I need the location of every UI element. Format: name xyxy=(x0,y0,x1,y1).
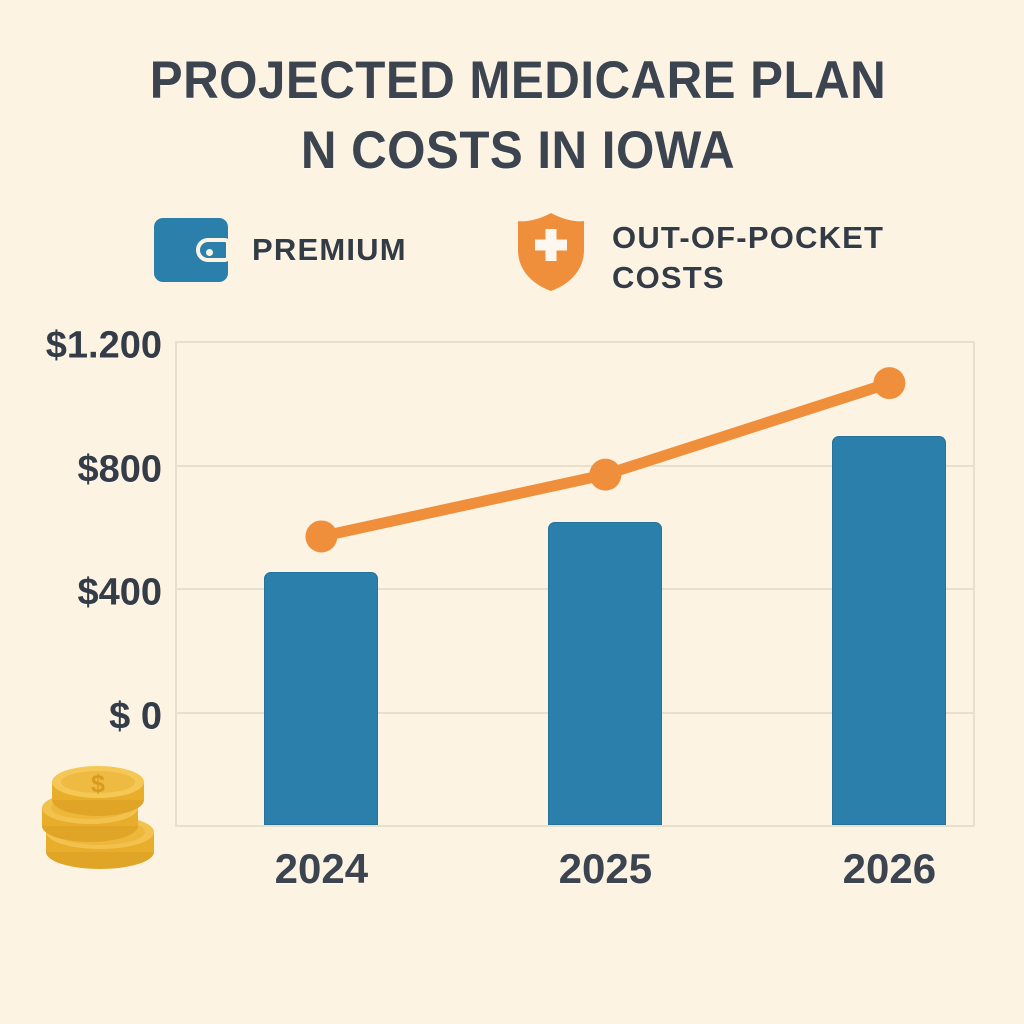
plot-area xyxy=(175,342,975,827)
legend-item-out-of-pocket: OUT-OF-POCKET COSTS xyxy=(508,204,942,299)
line-marker-2024 xyxy=(305,520,337,552)
y-axis-tick-label: $800 xyxy=(77,448,162,491)
shield-plus-icon xyxy=(508,204,594,290)
legend-label-out-of-pocket: OUT-OF-POCKET COSTS xyxy=(594,204,942,299)
x-axis-tick-label-2026: 2026 xyxy=(843,845,936,893)
x-axis-labels: 202420252026 xyxy=(175,845,975,905)
y-axis-tick-label: $400 xyxy=(77,572,162,615)
y-axis-tick-label: $1.200 xyxy=(46,325,162,368)
line-marker-2026 xyxy=(873,367,905,399)
legend-label-premium: PREMIUM xyxy=(234,208,407,270)
coin-stack-icon: $ xyxy=(38,760,156,870)
x-axis-tick-label-2025: 2025 xyxy=(559,845,652,893)
y-axis-labels: $ 0$400$800$1.200 xyxy=(0,0,175,1024)
x-axis-tick-label-2024: 2024 xyxy=(275,845,368,893)
legend-item-premium: PREMIUM xyxy=(148,208,407,294)
page-title: PROJECTED MEDICARE PLAN N COSTS IN IOWA xyxy=(140,46,895,186)
svg-text:$: $ xyxy=(91,770,105,798)
line-marker-2025 xyxy=(589,459,621,491)
line-series-out-of-pocket xyxy=(175,342,975,827)
y-axis-tick-label: $ 0 xyxy=(109,696,162,739)
infographic-canvas: PROJECTED MEDICARE PLAN N COSTS IN IOWA … xyxy=(0,0,1024,1024)
chart-legend: PREMIUM OUT-OF-POCKET COSTS xyxy=(140,200,940,305)
